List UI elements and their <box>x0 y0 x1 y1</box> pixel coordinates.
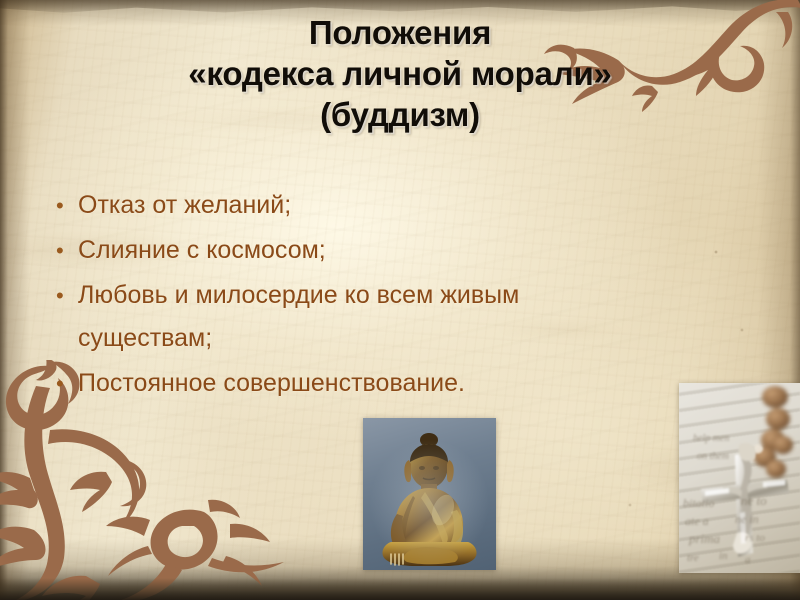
slide-title: Положения «кодекса личной морали» (будди… <box>60 12 740 135</box>
list-item: • Любовь и милосердие ко всем живым суще… <box>56 274 656 360</box>
svg-text:ne in: ne in <box>735 512 759 526</box>
bullet-marker-icon: • <box>56 184 78 227</box>
svg-text:ate a: ate a <box>685 514 709 528</box>
svg-text:in: in <box>719 550 728 562</box>
bullet-marker-icon: • <box>56 229 78 272</box>
list-item-label: Отказ от желаний; <box>78 184 656 227</box>
svg-text:tre: tre <box>687 552 699 564</box>
list-item-label: Любовь и милосердие ко всем живым сущест… <box>78 274 656 360</box>
title-line-1: Положения <box>60 12 740 53</box>
title-line-3: (буддизм) <box>60 94 740 135</box>
list-item: • Постоянное совершенствование. <box>56 362 656 405</box>
svg-text:on them: on them <box>697 451 729 462</box>
list-item: • Отказ от желаний; <box>56 184 656 227</box>
svg-text:ne to: ne to <box>741 493 767 508</box>
svg-text:rs to: rs to <box>745 532 765 544</box>
svg-text:prima: prima <box>688 531 721 546</box>
bullet-marker-icon: • <box>56 362 78 405</box>
bullet-list: • Отказ от желаний; • Слияние с космосом… <box>56 184 656 407</box>
svg-text:help men: help men <box>693 433 729 444</box>
list-item-label: Слияние с космосом; <box>78 229 656 272</box>
list-item: • Слияние с космосом; <box>56 229 656 272</box>
crucifix-illustration: bitatio ne to ate a ne in prima rs to tr… <box>679 383 800 573</box>
svg-text:bitatio: bitatio <box>683 496 714 510</box>
bullet-marker-icon: • <box>56 274 78 317</box>
svg-text:a: a <box>745 554 751 566</box>
title-line-2: «кодекса личной морали» <box>60 53 740 94</box>
rosary-crucifix-photo: bitatio ne to ate a ne in prima rs to tr… <box>679 383 800 573</box>
slide-canvas: Положения «кодекса личной морали» (будди… <box>0 0 800 600</box>
buddha-statue-photo <box>363 418 496 570</box>
photo-vignette <box>363 418 496 570</box>
list-item-label: Постоянное совершенствование. <box>78 362 656 405</box>
